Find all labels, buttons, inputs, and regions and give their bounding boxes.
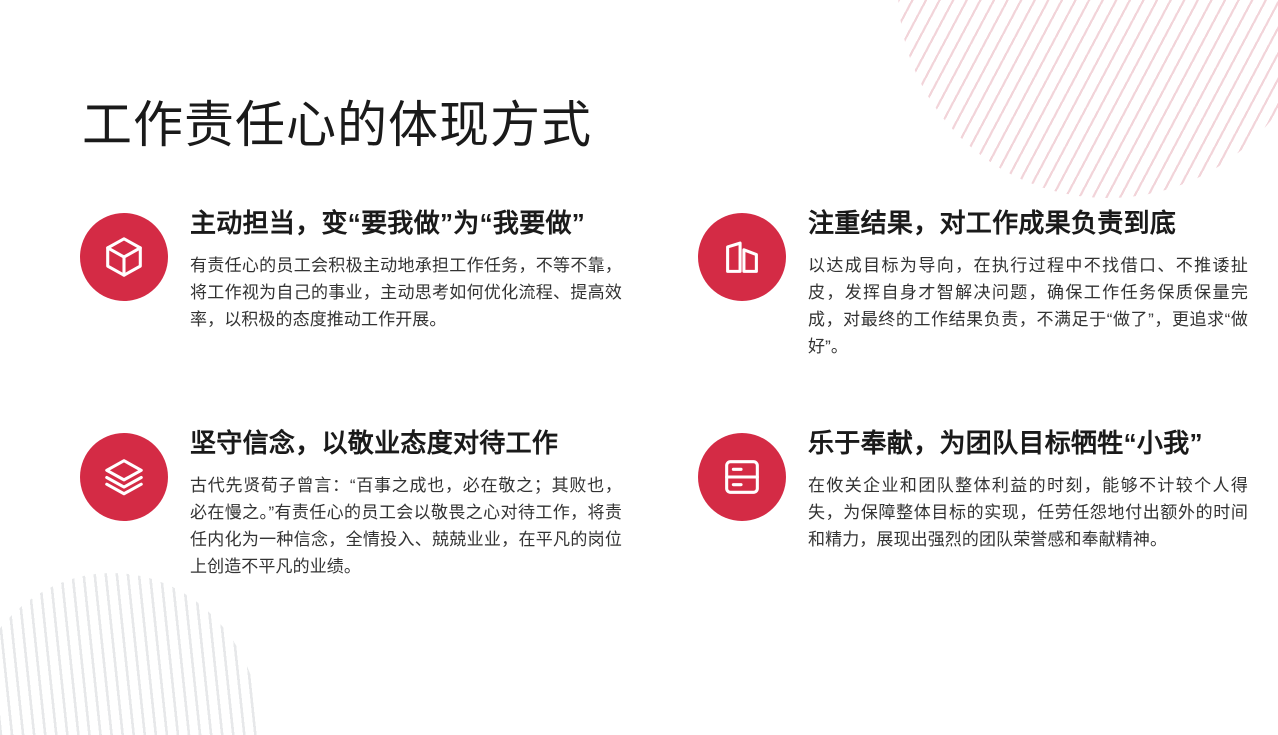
point-item-1: 主动担当，变“要我做”为“我要做” 有责任心的员工会积极主动地承担工作任务，不等…: [80, 205, 660, 425]
point-1-text: 有责任心的员工会积极主动地承担工作任务，不等不靠，将工作视为自己的事业，主动思考…: [190, 252, 622, 333]
point-2-body: 注重结果，对工作成果负责到底 以达成目标为导向，在执行过程中不找借口、不推诿扯皮…: [808, 205, 1278, 360]
point-3-heading: 坚守信念，以敬业态度对待工作: [190, 427, 660, 460]
cube-icon: [101, 234, 147, 280]
point-2-heading: 注重结果，对工作成果负责到底: [808, 207, 1278, 240]
point-4-text: 在攸关企业和团队整体利益的时刻，能够不计较个人得失，为保障整体目标的实现，任劳任…: [808, 472, 1248, 553]
point-item-2: 注重结果，对工作成果负责到底 以达成目标为导向，在执行过程中不找借口、不推诿扯皮…: [698, 205, 1278, 425]
point-1-icon-badge: [80, 213, 168, 301]
point-3-body: 坚守信念，以敬业态度对待工作 古代先贤荀子曾言：“百事之成也，必在敬之；其败也，…: [190, 425, 660, 580]
points-grid: 主动担当，变“要我做”为“我要做” 有责任心的员工会积极主动地承担工作任务，不等…: [0, 205, 1278, 645]
point-3-icon-badge: [80, 433, 168, 521]
point-2-icon-badge: [698, 213, 786, 301]
point-4-icon-badge: [698, 433, 786, 521]
slide-canvas: 工作责任心的体现方式 主动担当，变“要我做”为“我要做” 有责任心的员工会积极主…: [0, 0, 1278, 735]
point-4-body: 乐于奉献，为团队目标牺牲“小我” 在攸关企业和团队整体利益的时刻，能够不计较个人…: [808, 425, 1278, 553]
server-icon: [719, 454, 765, 500]
point-2-text: 以达成目标为导向，在执行过程中不找借口、不推诿扯皮，发挥自身才智解决问题，确保工…: [808, 252, 1248, 360]
stripe-pattern-pink: [898, 0, 1278, 198]
point-1-body: 主动担当，变“要我做”为“我要做” 有责任心的员工会积极主动地承担工作任务，不等…: [190, 205, 660, 333]
decoration-striped-circle-top-right: [898, 0, 1278, 198]
point-3-text: 古代先贤荀子曾言：“百事之成也，必在敬之；其败也，必在慢之。”有责任心的员工会以…: [190, 472, 622, 580]
layers-icon: [101, 454, 147, 500]
point-item-3: 坚守信念，以敬业态度对待工作 古代先贤荀子曾言：“百事之成也，必在敬之；其败也，…: [80, 425, 660, 645]
point-4-heading: 乐于奉献，为团队目标牺牲“小我”: [808, 427, 1278, 460]
point-item-4: 乐于奉献，为团队目标牺牲“小我” 在攸关企业和团队整体利益的时刻，能够不计较个人…: [698, 425, 1278, 645]
building-chart-icon: [719, 234, 765, 280]
page-title: 工作责任心的体现方式: [82, 97, 592, 153]
point-1-heading: 主动担当，变“要我做”为“我要做”: [190, 207, 660, 240]
